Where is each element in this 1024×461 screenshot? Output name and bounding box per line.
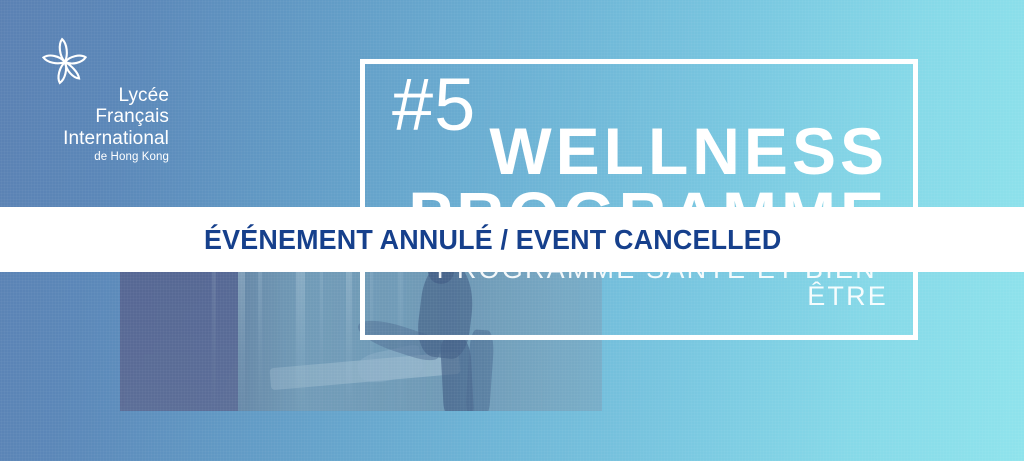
photo-streak: [320, 268, 323, 411]
photo-streak: [346, 268, 352, 411]
photo-streak: [212, 268, 216, 411]
bauhinia-flower-icon: [37, 33, 93, 89]
cancellation-banner: ÉVÉNEMENT ANNULÉ / EVENT CANCELLED: [0, 207, 1024, 272]
logo-line-2: Français: [34, 106, 169, 127]
cancellation-text: ÉVÉNEMENT ANNULÉ / EVENT CANCELLED: [204, 224, 782, 256]
school-logo: Lycée Français International de Hong Kon…: [34, 33, 169, 143]
logo-line-4: de Hong Kong: [34, 151, 169, 164]
photo-streak: [258, 268, 262, 411]
photo-streak: [238, 268, 245, 411]
school-logo-text: Lycée Français International de Hong Kon…: [34, 85, 169, 164]
photo-dark-panel: [120, 268, 238, 411]
title-line-one: WELLNESS: [400, 120, 888, 183]
photo-streak: [296, 268, 305, 411]
logo-line-3: International: [34, 128, 169, 149]
logo-line-1: Lycée: [34, 85, 169, 106]
wellness-event-poster: #5 WELLNESS PROGRAMME PROGRAMME SANTÉ ET…: [0, 0, 1024, 461]
